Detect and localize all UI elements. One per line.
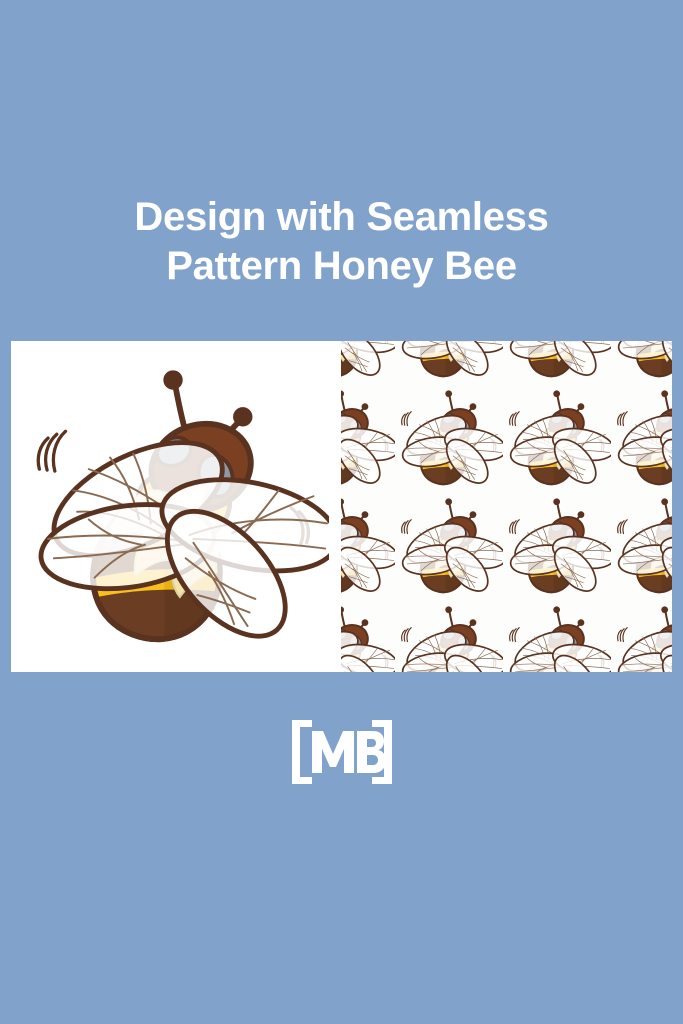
pattern-tile	[503, 341, 611, 383]
pattern-tile	[611, 383, 672, 491]
pattern-tile	[503, 599, 611, 672]
pattern-tile	[395, 491, 503, 599]
honey-bee-illustration	[19, 349, 329, 659]
pattern-tile	[395, 341, 503, 383]
pattern-tile	[503, 491, 611, 599]
pattern-tile	[395, 599, 503, 672]
pattern-tile	[611, 599, 672, 672]
single-bee-preview	[11, 341, 341, 672]
mb-bracket-logo-icon	[290, 718, 394, 786]
masterbundles-logo-mark	[290, 718, 394, 786]
pattern-tile	[611, 341, 672, 383]
poster-canvas: Design with Seamless Pattern Honey Bee	[0, 0, 683, 1024]
pattern-tile	[341, 599, 395, 672]
preview-image-panel	[11, 341, 672, 672]
pattern-grid	[341, 341, 672, 672]
brand-logo	[0, 718, 683, 791]
pattern-tile	[341, 491, 395, 599]
pattern-tile	[611, 491, 672, 599]
seamless-pattern-preview	[341, 341, 672, 672]
page-title-line-2: Pattern Honey Bee	[0, 242, 683, 291]
page-title: Design with Seamless Pattern Honey Bee	[0, 193, 683, 291]
page-title-line-1: Design with Seamless	[0, 193, 683, 242]
pattern-tile	[341, 341, 395, 383]
pattern-tile	[395, 383, 503, 491]
pattern-tile	[503, 383, 611, 491]
pattern-tile	[341, 383, 395, 491]
